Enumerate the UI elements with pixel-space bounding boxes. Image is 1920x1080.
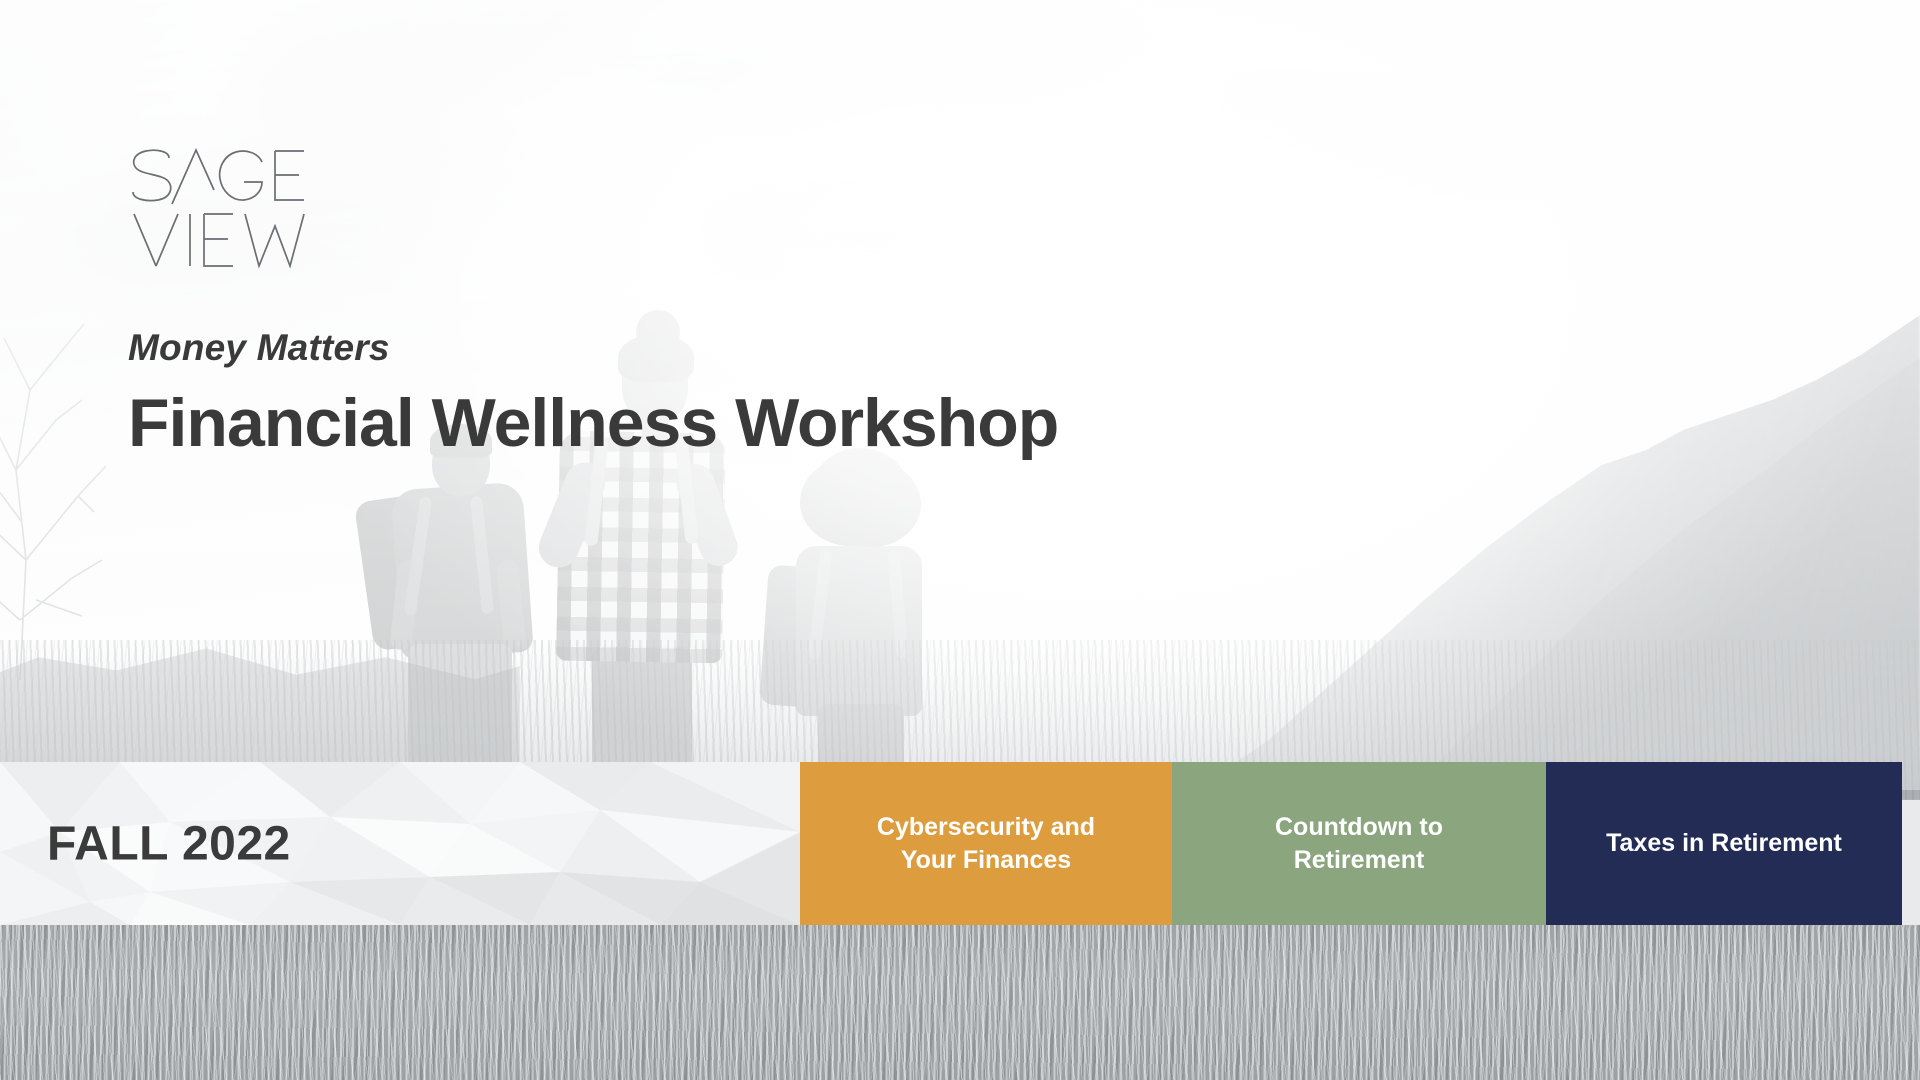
topic-line-1: Countdown to xyxy=(1275,813,1443,841)
bottom-bar: FALL 2022 Cybersecurity and Your Finance… xyxy=(0,762,1902,925)
page-title: Financial Wellness Workshop xyxy=(128,385,1058,461)
slide-canvas: Money Matters Financial Wellness Worksho… xyxy=(0,0,1920,1080)
topic-label-taxes: Taxes in Retirement xyxy=(1606,827,1842,860)
topic-line-1: Cybersecurity and xyxy=(877,813,1095,841)
season-label: FALL 2022 xyxy=(47,816,291,871)
eyebrow-label: Money Matters xyxy=(128,327,390,369)
topic-card-countdown[interactable]: Countdown to Retirement xyxy=(1172,762,1546,925)
topic-label-cybersecurity: Cybersecurity and Your Finances xyxy=(877,811,1095,876)
topic-line-2: Your Finances xyxy=(901,846,1071,874)
topic-label-countdown: Countdown to Retirement xyxy=(1275,811,1443,876)
season-panel: FALL 2022 xyxy=(0,762,800,925)
topic-card-taxes[interactable]: Taxes in Retirement xyxy=(1546,762,1902,925)
topic-card-cybersecurity[interactable]: Cybersecurity and Your Finances xyxy=(800,762,1172,925)
bare-branches xyxy=(0,260,226,680)
foreground-grass xyxy=(0,925,1920,1080)
sageview-logo[interactable] xyxy=(128,148,318,276)
topic-line-2: Retirement xyxy=(1294,846,1425,874)
